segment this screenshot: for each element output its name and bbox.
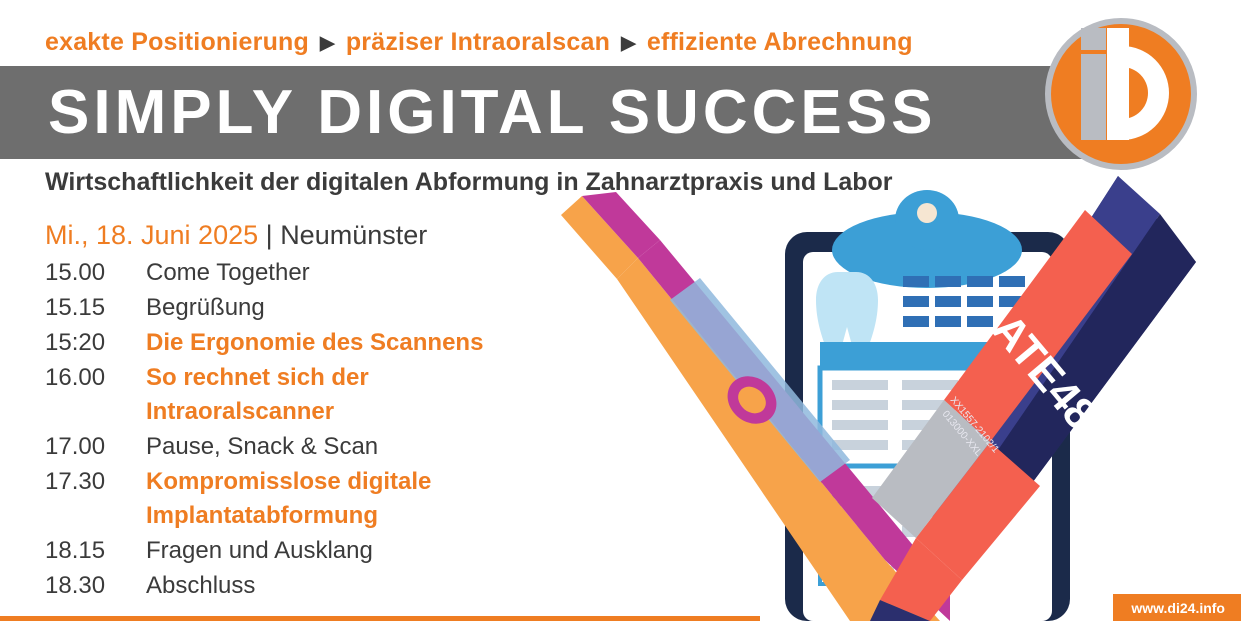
- agenda-row: 16.00 So rechnet sich der Intraoralscann…: [45, 361, 645, 429]
- tagline-part-1: exakte Positionierung: [45, 28, 309, 57]
- agenda-item: Fragen und Ausklang: [146, 534, 373, 568]
- triangle-icon-1: ▶: [320, 34, 335, 53]
- agenda-time: 17.00: [45, 430, 146, 464]
- event-separator: |: [266, 220, 273, 250]
- agenda-time: 15:20: [45, 326, 146, 360]
- agenda-row: 17.00 Pause, Snack & Scan: [45, 430, 645, 464]
- event-dateline: Mi., 18. Juni 2025 | Neumünster: [45, 220, 427, 251]
- agenda-list: 15.00 Come Together 15.15 Begrüßung 15:2…: [45, 256, 645, 604]
- agenda-item-line1: Kompromisslose digitale: [146, 468, 431, 495]
- agenda-item-line1: Fragen und Ausklang: [146, 537, 373, 564]
- poster-canvas: ATE48 XX1557-2102/1 013000-XXL exakte Po…: [0, 0, 1241, 621]
- agenda-time: 18.15: [45, 534, 146, 568]
- agenda-item: Die Ergonomie des Scannens: [146, 326, 483, 360]
- agenda-time: 18.30: [45, 569, 146, 603]
- agenda-row: 17.30 Kompromisslose digitale Implantata…: [45, 465, 645, 533]
- agenda-item: Begrüßung: [146, 291, 265, 325]
- agenda-row: 18.15 Fragen und Ausklang: [45, 534, 645, 568]
- agenda-item-line2: Implantatabformung: [146, 499, 431, 533]
- agenda-item: So rechnet sich der Intraoralscanner: [146, 361, 369, 429]
- agenda-time: 15.00: [45, 256, 146, 290]
- logo-i-dot: [1081, 28, 1106, 50]
- agenda-item-line1: Abschluss: [146, 572, 255, 599]
- agenda-item: Come Together: [146, 256, 310, 290]
- event-city: Neumünster: [280, 220, 427, 250]
- subtitle: Wirtschaftlichkeit der digitalen Abformu…: [45, 168, 893, 197]
- tagline: exakte Positionierung ▶ präziser Intraor…: [45, 28, 913, 57]
- agenda-item-line2: Intraoralscanner: [146, 395, 369, 429]
- agenda-item-line1: So rechnet sich der: [146, 364, 369, 391]
- agenda-time: 16.00: [45, 361, 146, 395]
- di-logo: [1045, 18, 1197, 170]
- logo-d-bowl: [1117, 46, 1169, 140]
- agenda-item: Abschluss: [146, 569, 255, 603]
- agenda-item-line1: Die Ergonomie des Scannens: [146, 329, 483, 356]
- agenda-item-line1: Begrüßung: [146, 294, 265, 321]
- tagline-part-3: effiziente Abrechnung: [647, 28, 913, 57]
- agenda-row: 15.00 Come Together: [45, 256, 645, 290]
- agenda-item-line1: Pause, Snack & Scan: [146, 433, 378, 460]
- website-url-bar[interactable]: www.di24.info: [1113, 594, 1241, 621]
- agenda-row: 18.30 Abschluss: [45, 569, 645, 603]
- event-date: Mi., 18. Juni 2025: [45, 220, 258, 250]
- logo-d-letter: [1107, 28, 1169, 140]
- agenda-item: Kompromisslose digitale Implantatabformu…: [146, 465, 431, 533]
- triangle-icon-2: ▶: [621, 34, 636, 53]
- tagline-part-2: präziser Intraoralscan: [346, 28, 610, 57]
- website-url: www.di24.info: [1131, 600, 1225, 616]
- bottom-accent-line: [0, 616, 760, 621]
- logo-i-stem: [1081, 54, 1106, 140]
- agenda-time: 15.15: [45, 291, 146, 325]
- agenda-item: Pause, Snack & Scan: [146, 430, 378, 464]
- agenda-time: 17.30: [45, 465, 146, 499]
- page-title: SIMPLY DIGITAL SUCCESS: [48, 78, 936, 148]
- agenda-item-line1: Come Together: [146, 259, 310, 286]
- agenda-row: 15:20 Die Ergonomie des Scannens: [45, 326, 645, 360]
- agenda-row: 15.15 Begrüßung: [45, 291, 645, 325]
